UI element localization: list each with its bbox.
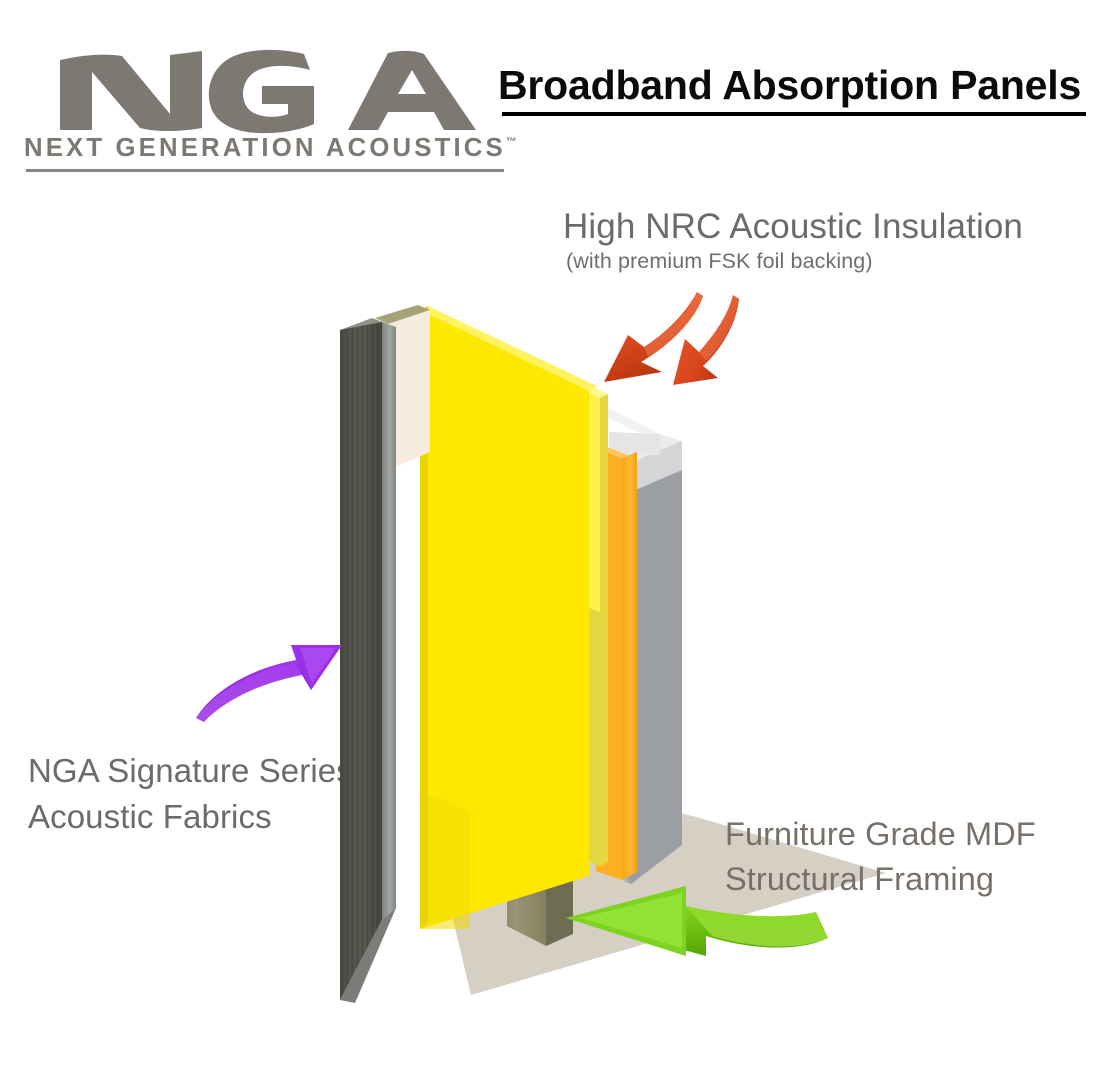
callout-label-mdf-line2: Structural Framing xyxy=(725,857,1105,902)
layer-orange-core xyxy=(596,445,637,880)
arrow-fabric-purple xyxy=(196,645,342,722)
callout-label-fabric-line1: NGA Signature Series xyxy=(28,748,428,794)
broadband-absorption-panels-infographic: { "header": { "logo": { "mark_text": "NG… xyxy=(0,0,1118,1069)
callout-label-mdf-line1: Furniture Grade MDF xyxy=(725,812,1105,857)
nga-logo: NEXT GENERATION ACOUSTICS™ xyxy=(24,42,494,172)
layer-insulation-rear xyxy=(430,314,608,866)
callout-label-fabric-line2: Acoustic Fabrics xyxy=(28,794,428,840)
arrow-insulation-red-2 xyxy=(673,295,739,385)
layer-insulation-front xyxy=(420,306,597,929)
arrow-insulation-red-1 xyxy=(604,292,703,382)
layer-mdf-frame xyxy=(401,311,573,946)
callout-label-mdf: Furniture Grade MDF Structural Framing xyxy=(725,812,1105,902)
callout-sublabel-insulation: (with premium FSK foil backing) xyxy=(566,250,873,273)
layer-foil-backing-panel xyxy=(609,434,682,884)
layer-foil-backing-plate xyxy=(430,318,660,455)
logo-underline-divider xyxy=(26,169,504,172)
callout-label-fabric: NGA Signature Series Acoustic Fabrics xyxy=(28,748,428,839)
nga-logo-tagline: NEXT GENERATION ACOUSTICS™ xyxy=(24,134,499,163)
layer-cream-fsk xyxy=(375,305,430,470)
trademark-symbol: ™ xyxy=(506,136,517,148)
nga-logo-tagline-text: NEXT GENERATION ACOUSTICS xyxy=(24,134,506,162)
page-title-underline xyxy=(502,112,1086,116)
nga-logo-mark xyxy=(52,42,482,137)
layer-acoustic-fabric xyxy=(340,318,396,1003)
page-title: Broadband Absorption Panels xyxy=(498,62,1098,109)
callout-label-insulation: High NRC Acoustic Insulation xyxy=(563,208,1023,245)
